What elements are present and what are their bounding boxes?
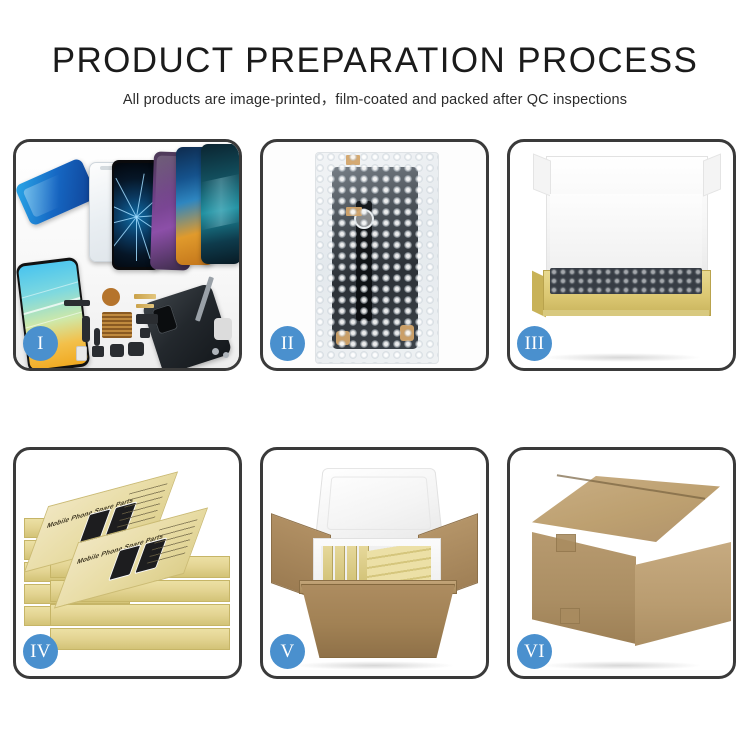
carton-tape-upper: [556, 534, 576, 552]
box-front-edge: [543, 310, 709, 316]
step-badge-3: III: [517, 326, 552, 361]
carton-side-face: [635, 542, 731, 646]
step-panel-5: V: [260, 447, 489, 679]
spare-part-motor: [128, 342, 144, 356]
step-badge-1: I: [23, 326, 58, 361]
step-badge-6: VI: [517, 634, 552, 669]
step-panel-6: VI: [507, 447, 736, 679]
page-title: PRODUCT PREPARATION PROCESS: [0, 40, 750, 82]
step-panel-4: Mobile Phone Spare Parts Mobile Phone Sp…: [13, 447, 242, 679]
product-preparation-infographic: PRODUCT PREPARATION PROCESS All products…: [0, 0, 750, 750]
spare-part-connector: [64, 300, 90, 306]
stacked-box-front-3: [50, 604, 230, 626]
spare-part-module: [136, 314, 158, 324]
teal-wave-phone: [201, 144, 239, 264]
step-panel-2: II: [260, 139, 489, 371]
bubble-wrap-bag: [315, 152, 439, 364]
spare-part-flex-cable-2: [136, 304, 154, 308]
step-badge-5: V: [270, 634, 305, 669]
foam-box-lid: [315, 468, 443, 541]
carton-tape-lower: [560, 608, 580, 624]
spare-part-flex-cable: [134, 294, 156, 299]
spare-part-speaker: [102, 288, 120, 306]
spare-part-flex-strip: [82, 316, 90, 342]
page-subtitle: All products are image-printed，film-coat…: [0, 91, 750, 109]
spare-part-screw: [212, 348, 219, 355]
foam-sheet: [550, 194, 702, 272]
step-badge-2: II: [270, 326, 305, 361]
bubble-texture: [316, 153, 438, 363]
spare-part-sim-tray: [76, 346, 87, 361]
step-badge-4: IV: [23, 634, 58, 669]
stacked-box-front-4: [50, 628, 230, 650]
step-panel-1: I: [13, 139, 242, 371]
spare-part-button: [92, 346, 104, 357]
spare-part-vibrator: [110, 344, 124, 357]
step-panel-3: III: [507, 139, 736, 371]
process-steps-grid: I II: [13, 139, 737, 679]
spare-part-screw-2: [223, 352, 229, 358]
spare-part-flex-strip-2: [94, 328, 100, 346]
drop-shadow: [294, 661, 455, 670]
drop-shadow: [541, 353, 702, 362]
bubble-wrapped-items: [550, 268, 702, 294]
carton-body: [301, 584, 455, 658]
carton-front-face: [532, 532, 636, 644]
spare-part-chip-array: [102, 312, 132, 338]
spare-part-camera: [140, 328, 150, 338]
drop-shadow: [541, 661, 702, 670]
box-stack: Mobile Phone Spare Parts Mobile Phone Sp…: [24, 472, 236, 664]
repair-tool-hand: [214, 318, 232, 340]
header: PRODUCT PREPARATION PROCESS All products…: [0, 40, 750, 109]
